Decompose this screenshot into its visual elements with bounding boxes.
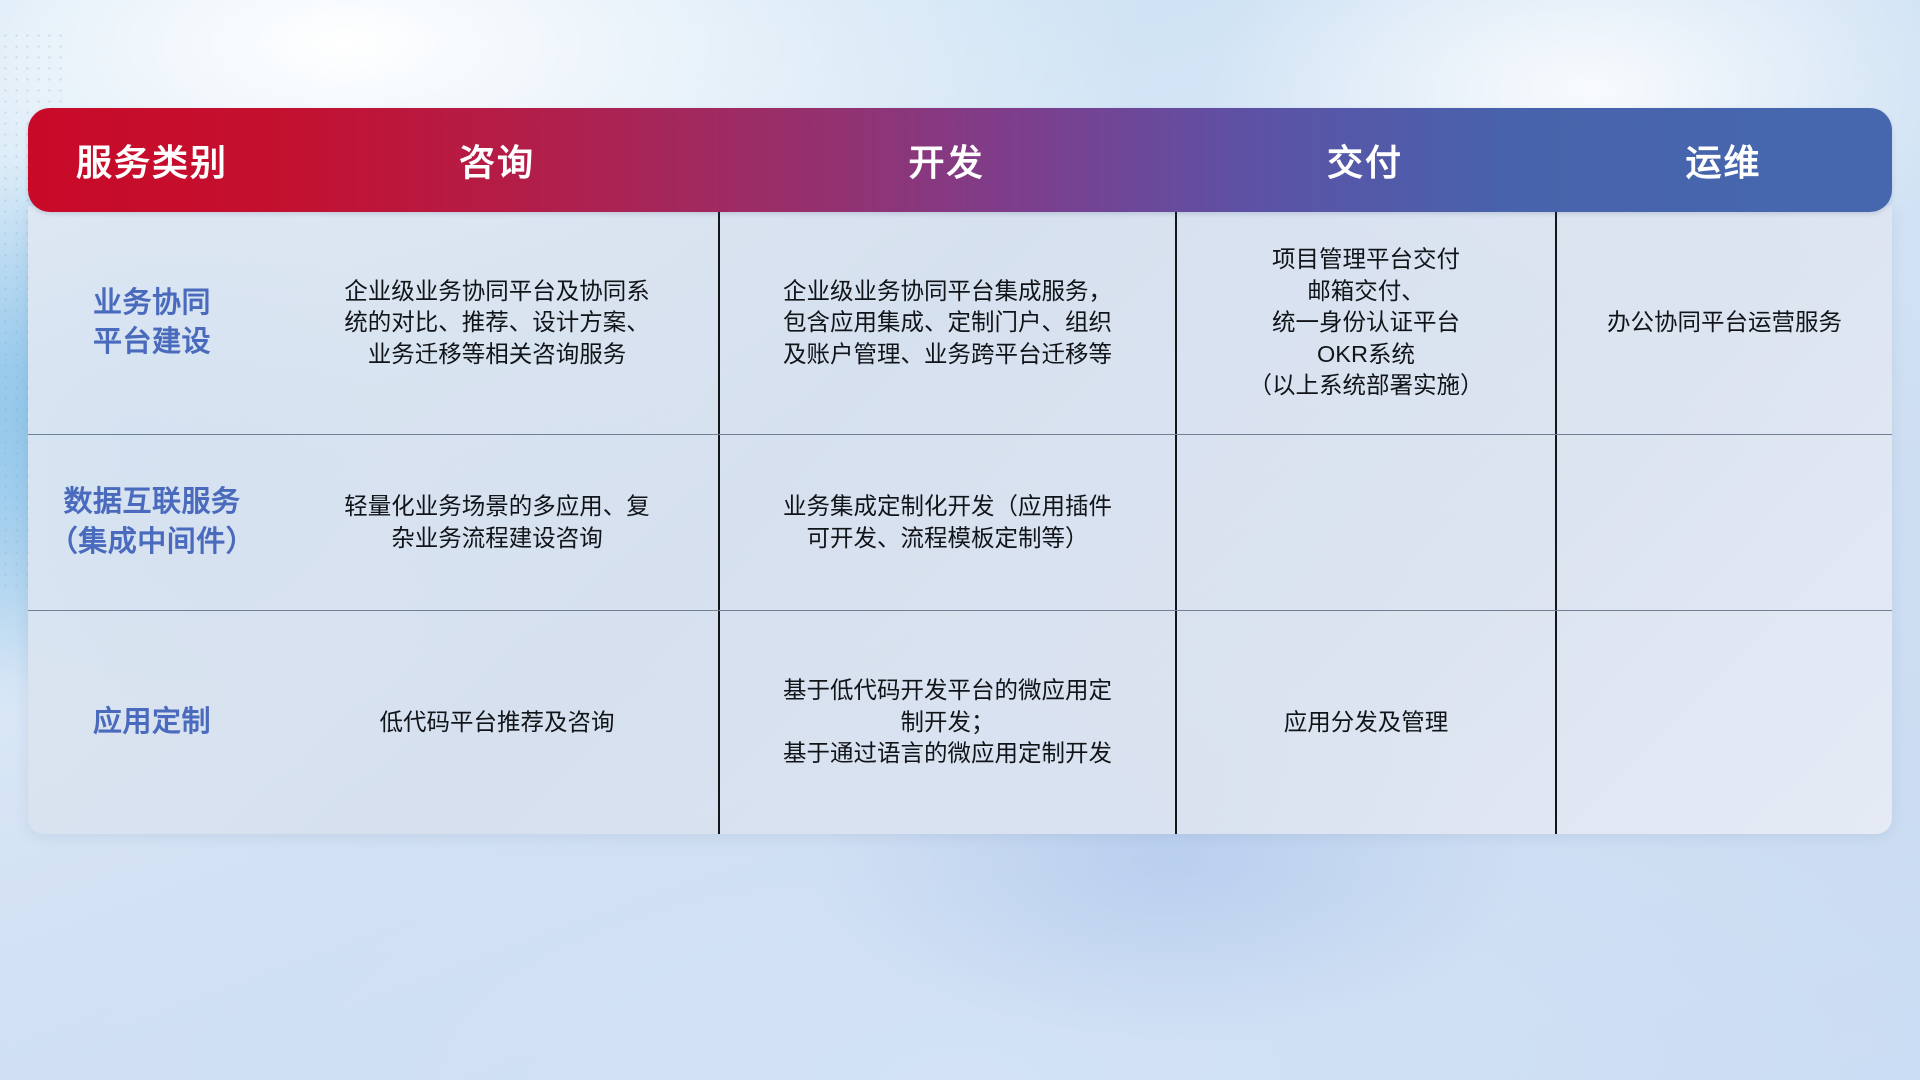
table-row: 业务协同 平台建设 企业级业务协同平台及协同系 统的对比、推荐、设计方案、 业务… (28, 212, 1892, 434)
table-header-cell-consulting: 咨询 (276, 134, 718, 186)
row-category-label: 数据互联服务 （集成中间件） (28, 435, 276, 610)
table-header-cell-operations: 运维 (1555, 134, 1892, 186)
row-operations-cell (1555, 435, 1892, 610)
row-development-cell: 基于低代码开发平台的微应用定 制开发； 基于通过语言的微应用定制开发 (718, 611, 1175, 834)
row-delivery-cell: 应用分发及管理 (1175, 611, 1555, 834)
table-row: 应用定制 低代码平台推荐及咨询 基于低代码开发平台的微应用定 制开发； 基于通过… (28, 610, 1892, 834)
table-header-cell-development: 开发 (718, 134, 1175, 186)
row-consulting-cell: 低代码平台推荐及咨询 (276, 611, 718, 834)
row-category-label: 应用定制 (28, 611, 276, 834)
row-development-cell: 企业级业务协同平台集成服务， 包含应用集成、定制门户、组织 及账户管理、业务跨平… (718, 212, 1175, 434)
table-header-cell-delivery: 交付 (1175, 134, 1555, 186)
row-delivery-cell (1175, 435, 1555, 610)
row-operations-cell (1555, 611, 1892, 834)
row-operations-cell: 办公协同平台运营服务 (1555, 212, 1892, 434)
row-delivery-cell: 项目管理平台交付 邮箱交付、 统一身份认证平台 OKR系统 （以上系统部署实施） (1175, 212, 1555, 434)
service-matrix-table: 服务类别 咨询 开发 交付 运维 业务协同 平台建设 企业级业务协同平台及协同系… (28, 108, 1892, 834)
row-consulting-cell: 企业级业务协同平台及协同系 统的对比、推荐、设计方案、 业务迁移等相关咨询服务 (276, 212, 718, 434)
row-category-label: 业务协同 平台建设 (28, 212, 276, 434)
row-development-cell: 业务集成定制化开发（应用插件 可开发、流程模板定制等） (718, 435, 1175, 610)
table-row: 数据互联服务 （集成中间件） 轻量化业务场景的多应用、复 杂业务流程建设咨询 业… (28, 434, 1892, 610)
table-header-row: 服务类别 咨询 开发 交付 运维 (28, 108, 1892, 212)
table-header-cell-service-category: 服务类别 (28, 134, 276, 186)
table-body: 业务协同 平台建设 企业级业务协同平台及协同系 统的对比、推荐、设计方案、 业务… (28, 206, 1892, 834)
row-consulting-cell: 轻量化业务场景的多应用、复 杂业务流程建设咨询 (276, 435, 718, 610)
